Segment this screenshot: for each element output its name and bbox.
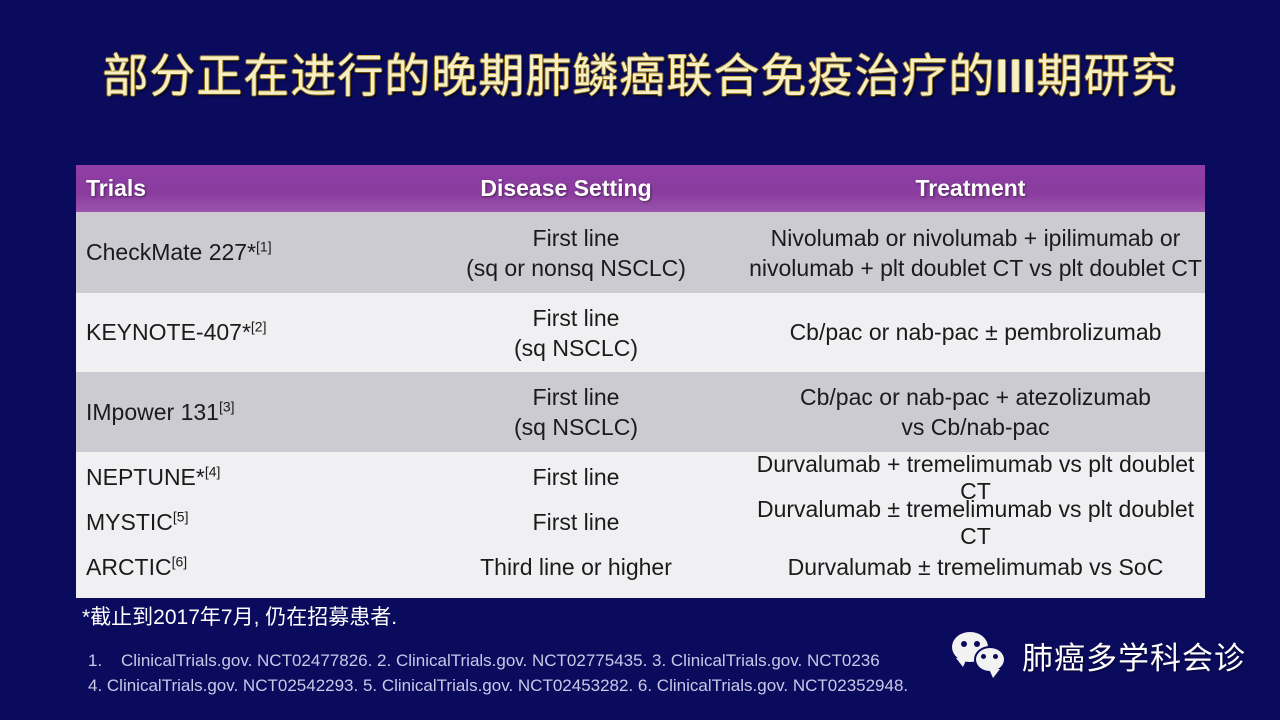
cell-treatment: Cb/pac or nab-pac + atezolizumab vs Cb/n… bbox=[746, 382, 1205, 442]
references-list: 1. ClinicalTrials.gov. NCT02477826. 2. C… bbox=[88, 648, 908, 698]
footnote-text: *截止到2017年7月, 仍在招募患者. bbox=[82, 601, 397, 631]
wechat-watermark: 肺癌多学科会诊 bbox=[952, 632, 1246, 678]
cell-treatment: Nivolumab or nivolumab + ipilimumab or n… bbox=[746, 223, 1205, 283]
title-prefix-text: 部分正在进行的晚期肺鳞癌联合免疫治疗的 bbox=[102, 50, 995, 102]
cell-trial-name: CheckMate 227*[1] bbox=[76, 239, 406, 266]
table-row-group-single-line: NEPTUNE*[4] First line Durvalumab + trem… bbox=[76, 452, 1205, 598]
treatment-line-2: nivolumab + plt doublet CT vs plt double… bbox=[746, 253, 1205, 283]
reference-line-1-text: ClinicalTrials.gov. NCT02477826. 2. Clin… bbox=[88, 651, 880, 670]
trial-name-text: KEYNOTE-407* bbox=[86, 319, 251, 345]
trial-ref-superscript: [3] bbox=[219, 398, 235, 414]
table-row: IMpower 131[3] First line (sq NSCLC) Cb/… bbox=[76, 372, 1205, 452]
wechat-icon bbox=[952, 632, 1014, 678]
treatment-line-1: Cb/pac or nab-pac ± pembrolizumab bbox=[746, 319, 1205, 346]
treatment-line-1: Cb/pac or nab-pac + atezolizumab bbox=[746, 382, 1205, 412]
cell-disease-setting: First line (sq NSCLC) bbox=[406, 303, 746, 363]
table-header-row: Trials Disease Setting Treatment bbox=[76, 165, 1205, 212]
cell-trial-name: ARCTIC[6] bbox=[76, 554, 406, 581]
treatment-line-1: Nivolumab or nivolumab + ipilimumab or bbox=[746, 223, 1205, 253]
trial-name-text: ARCTIC bbox=[86, 554, 172, 580]
trial-ref-superscript: [1] bbox=[256, 238, 272, 254]
cell-trial-name: KEYNOTE-407*[2] bbox=[76, 319, 406, 346]
setting-line-2: (sq NSCLC) bbox=[406, 333, 746, 363]
trial-ref-superscript: [4] bbox=[205, 463, 221, 479]
setting-line-1: First line bbox=[406, 223, 746, 253]
page-title: 部分正在进行的晚期肺鳞癌联合免疫治疗的III期研究 bbox=[102, 48, 1177, 104]
trial-name-text: NEPTUNE* bbox=[86, 464, 205, 490]
cell-trial-name: NEPTUNE*[4] bbox=[76, 464, 406, 491]
reference-line-1: 1. ClinicalTrials.gov. NCT02477826. 2. C… bbox=[88, 648, 908, 673]
title-phase-roman: III bbox=[995, 50, 1036, 102]
cell-disease-setting: Third line or higher bbox=[406, 554, 746, 581]
setting-line-2: (sq or nonsq NSCLC) bbox=[406, 253, 746, 283]
reference-line-2: 4. ClinicalTrials.gov. NCT02542293. 5. C… bbox=[88, 673, 908, 698]
trial-ref-superscript: [2] bbox=[251, 318, 267, 334]
watermark-label: 肺癌多学科会诊 bbox=[1022, 633, 1246, 678]
table-row: NEPTUNE*[4] First line Durvalumab + trem… bbox=[76, 455, 1205, 500]
cell-treatment: Durvalumab ± tremelimumab vs SoC bbox=[746, 554, 1205, 581]
cell-treatment: Cb/pac or nab-pac ± pembrolizumab bbox=[746, 319, 1205, 346]
setting-line-1: First line bbox=[406, 303, 746, 333]
table-row: ARCTIC[6] Third line or higher Durvaluma… bbox=[76, 545, 1205, 590]
setting-line-2: (sq NSCLC) bbox=[406, 412, 746, 442]
cell-disease-setting: First line bbox=[406, 464, 746, 491]
table-row: KEYNOTE-407*[2] First line (sq NSCLC) Cb… bbox=[76, 293, 1205, 372]
table-row: MYSTIC[5] First line Durvalumab ± tremel… bbox=[76, 500, 1205, 545]
trial-name-text: IMpower 131 bbox=[86, 399, 219, 425]
cell-disease-setting: First line (sq or nonsq NSCLC) bbox=[406, 223, 746, 283]
cell-trial-name: IMpower 131[3] bbox=[76, 399, 406, 426]
table-row: CheckMate 227*[1] First line (sq or nons… bbox=[76, 212, 1205, 293]
trials-table: Trials Disease Setting Treatment CheckMa… bbox=[76, 165, 1205, 598]
cell-trial-name: MYSTIC[5] bbox=[76, 509, 406, 536]
column-header-trials: Trials bbox=[76, 175, 406, 202]
treatment-line-2: vs Cb/nab-pac bbox=[746, 412, 1205, 442]
trial-name-text: CheckMate 227* bbox=[86, 239, 256, 265]
column-header-treatment: Treatment bbox=[746, 175, 1205, 202]
trial-name-text: MYSTIC bbox=[86, 509, 173, 535]
cell-disease-setting: First line (sq NSCLC) bbox=[406, 382, 746, 442]
cell-treatment: Durvalumab ± tremelimumab vs plt doublet… bbox=[746, 496, 1205, 550]
title-container: 部分正在进行的晚期肺鳞癌联合免疫治疗的III期研究 bbox=[0, 48, 1280, 104]
cell-disease-setting: First line bbox=[406, 509, 746, 536]
reference-number: 1. bbox=[88, 648, 102, 673]
column-header-disease-setting: Disease Setting bbox=[406, 175, 746, 202]
setting-line-1: First line bbox=[406, 382, 746, 412]
trial-ref-superscript: [6] bbox=[172, 553, 188, 569]
title-suffix-text: 期研究 bbox=[1037, 50, 1178, 102]
trial-ref-superscript: [5] bbox=[173, 508, 189, 524]
slide-canvas: 部分正在进行的晚期肺鳞癌联合免疫治疗的III期研究 Trials Disease… bbox=[0, 0, 1280, 720]
